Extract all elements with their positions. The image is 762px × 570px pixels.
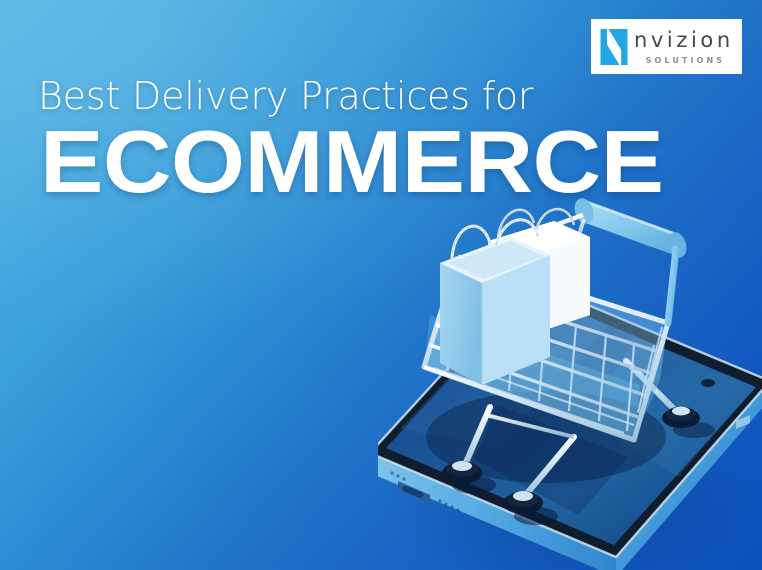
hero-illustration (378, 185, 762, 570)
cart-on-phone-graphic (378, 185, 762, 570)
logo-wordmark: nvizion SOLUTIONS (634, 29, 734, 65)
nvizion-logo[interactable]: nvizion SOLUTIONS (591, 19, 742, 74)
logo-tagline: SOLUTIONS (634, 57, 734, 65)
nvizion-n-mark (598, 27, 633, 67)
ecommerce-banner: nvizion SOLUTIONS Best Delivery Practice… (0, 0, 762, 570)
phone-camera-dot (701, 379, 715, 387)
logo-name: nvizion (634, 30, 734, 51)
